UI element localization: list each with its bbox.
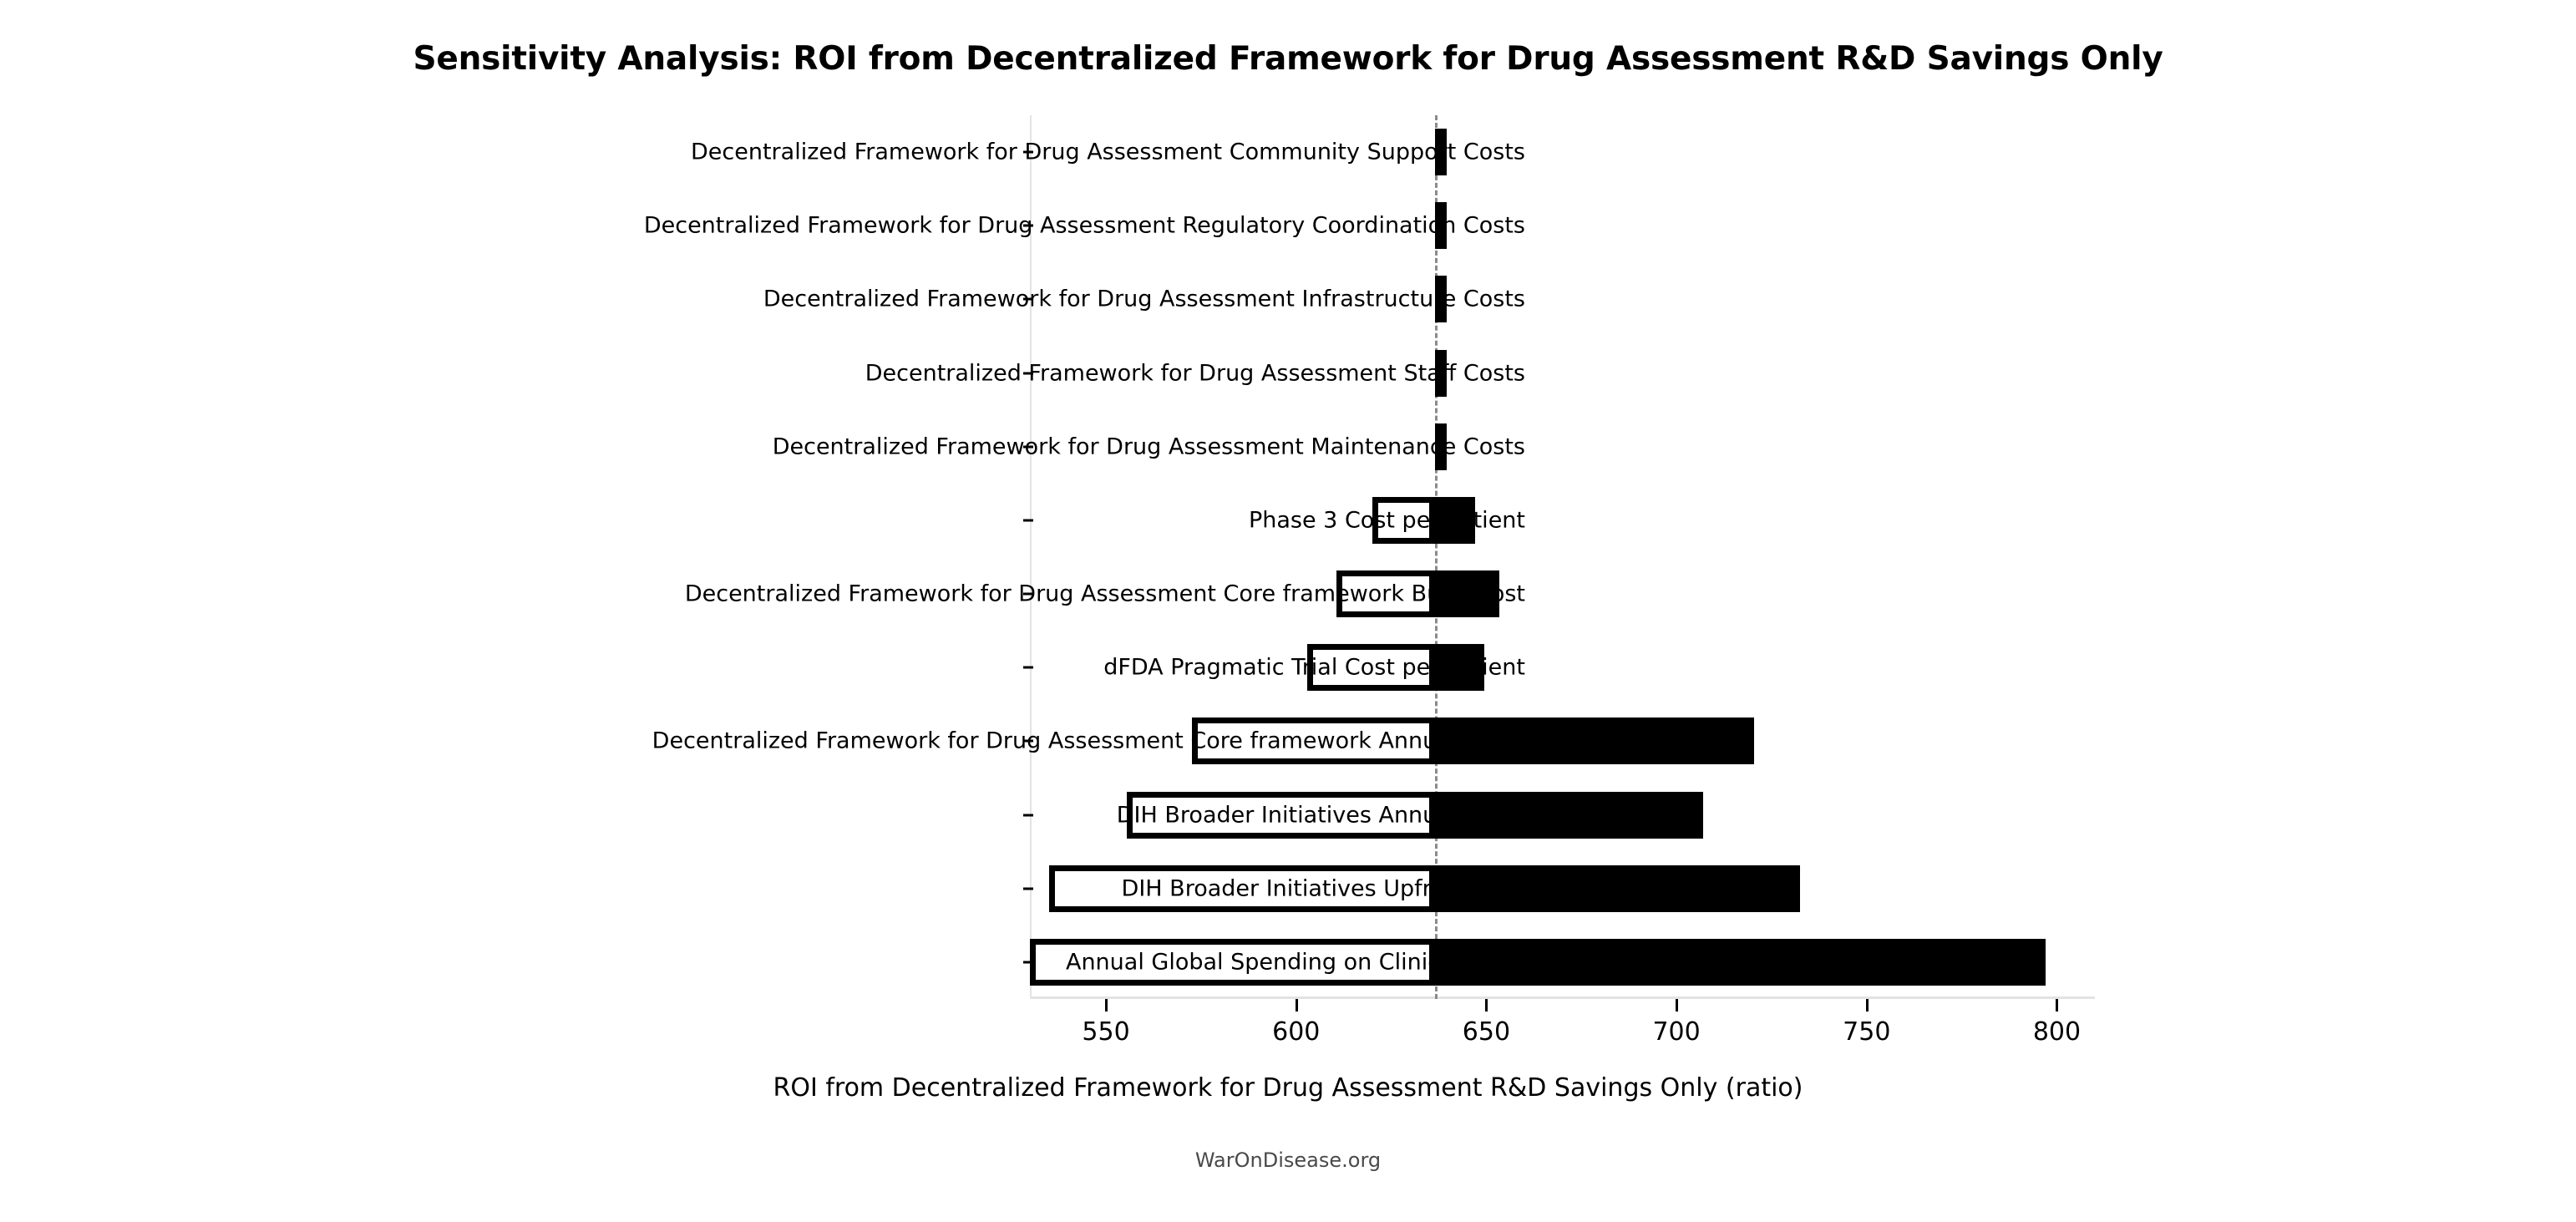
y-axis-tick-mark (1023, 225, 1033, 227)
x-axis-tick-label: 600 (1272, 1017, 1320, 1047)
x-axis-tick-label: 650 (1463, 1017, 1510, 1047)
tornado-row[interactable] (1030, 484, 2095, 557)
y-axis-tick-mark (1023, 151, 1033, 154)
y-axis-tick-label: Decentralized Framework for Drug Assessm… (865, 360, 1525, 386)
y-axis-tick-mark (1023, 372, 1033, 374)
y-axis-tick-mark (1023, 961, 1033, 963)
x-axis-tick-mark (1296, 999, 1298, 1012)
x-axis-tick-mark (1485, 999, 1488, 1012)
x-axis-tick-mark (1105, 999, 1108, 1012)
chart-title: Sensitivity Analysis: ROI from Decentral… (0, 40, 2576, 78)
y-axis-tick-mark (1023, 519, 1033, 521)
y-axis-tick-label: Decentralized Framework for Drug Assessm… (685, 581, 1525, 607)
y-axis-tick-label: dFDA Pragmatic Trial Cost per Patient (1103, 655, 1525, 681)
y-axis-tick-mark (1023, 593, 1033, 596)
plot-area (1030, 115, 2095, 999)
y-axis-tick-label: DIH Broader Initiatives Annual OPEX (1117, 802, 1525, 828)
y-axis-tick-label: Decentralized Framework for Drug Assessm… (652, 728, 1525, 754)
x-axis-tick-label: 550 (1082, 1017, 1129, 1047)
y-axis-tick-label: Decentralized Framework for Drug Assessm… (773, 434, 1525, 459)
y-axis-tick-label: Decentralized Framework for Drug Assessm… (644, 213, 1525, 239)
x-axis-tick-label: 700 (1652, 1017, 1700, 1047)
y-axis-tick-mark (1023, 740, 1033, 743)
x-axis-tick-mark (1676, 999, 1678, 1012)
y-axis-tick-mark (1023, 814, 1033, 816)
y-axis-tick-label: Phase 3 Cost per Patient (1249, 507, 1525, 533)
y-axis-tick-label: Annual Global Spending on Clinical Trial… (1066, 949, 1525, 975)
x-axis-tick-label: 800 (2033, 1017, 2081, 1047)
y-axis-tick-mark (1023, 298, 1033, 301)
y-axis-tick-label: Decentralized Framework for Drug Assessm… (691, 139, 1525, 165)
y-axis-tick-mark (1023, 667, 1033, 669)
bar-high[interactable] (1435, 939, 2046, 986)
y-axis-tick-mark (1023, 887, 1033, 890)
x-axis-tick-mark (2056, 999, 2058, 1012)
y-axis-tick-mark (1023, 445, 1033, 448)
sensitivity-tornado-chart: Sensitivity Analysis: ROI from Decentral… (0, 0, 2576, 1222)
x-axis-tick-mark (1866, 999, 1869, 1012)
watermark: WarOnDisease.org (0, 1148, 2576, 1172)
y-axis-tick-label: Decentralized Framework for Drug Assessm… (763, 286, 1525, 312)
y-axis-tick-label: DIH Broader Initiatives Upfront Cost (1122, 875, 1525, 901)
x-axis-title: ROI from Decentralized Framework for Dru… (0, 1073, 2576, 1103)
x-axis-tick-label: 750 (1843, 1017, 1890, 1047)
